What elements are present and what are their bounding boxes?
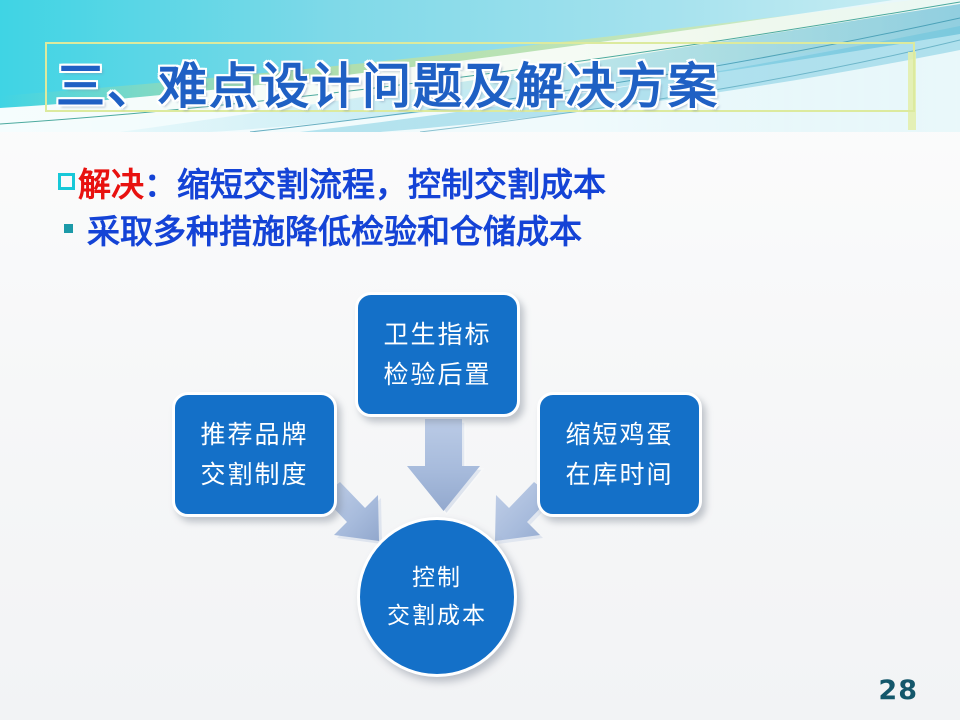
node-center-line-2: 交割成本: [387, 597, 487, 635]
page-title: 三、难点设计问题及解决方案: [56, 47, 916, 118]
diagram-node-right[interactable]: 缩短鸡蛋 在库时间: [537, 392, 702, 517]
bullet-list: 解决 ：缩短交割流程，控制交割成本 采取多种措施降低检验和仓储成本: [58, 158, 878, 252]
hollow-square-bullet-icon: [58, 173, 75, 190]
node-left-line-1: 推荐品牌: [200, 415, 308, 455]
node-top-line-1: 卫生指标: [383, 315, 491, 355]
node-right-line-1: 缩短鸡蛋: [565, 415, 673, 455]
node-right-line-2: 在库时间: [565, 455, 673, 495]
bullet-1-emphasis: 解决: [78, 158, 144, 206]
node-left-line-2: 交割制度: [200, 455, 308, 495]
presentation-slide: 三、难点设计问题及解决方案 解决 ：缩短交割流程，控制交割成本 采取多种措施降低…: [0, 0, 960, 720]
arrow-top-to-center: [407, 419, 483, 514]
bullet-1-text: ：缩短交割流程，控制交割成本: [144, 158, 606, 206]
diagram-node-left[interactable]: 推荐品牌 交割制度: [172, 392, 337, 517]
bullet-item-2: 采取多种措施降低检验和仓储成本: [58, 205, 878, 252]
bullet-2-text: 采取多种措施降低检验和仓储成本: [87, 205, 582, 253]
node-center-line-1: 控制: [412, 559, 462, 597]
bullet-item-1: 解决 ：缩短交割流程，控制交割成本: [58, 158, 878, 205]
node-top-line-2: 检验后置: [383, 355, 491, 395]
page-number: 28: [878, 675, 918, 706]
diagram-node-center[interactable]: 控制 交割成本: [357, 517, 517, 677]
diagram-node-top[interactable]: 卫生指标 检验后置: [355, 292, 520, 417]
small-square-bullet-icon: [64, 224, 73, 233]
